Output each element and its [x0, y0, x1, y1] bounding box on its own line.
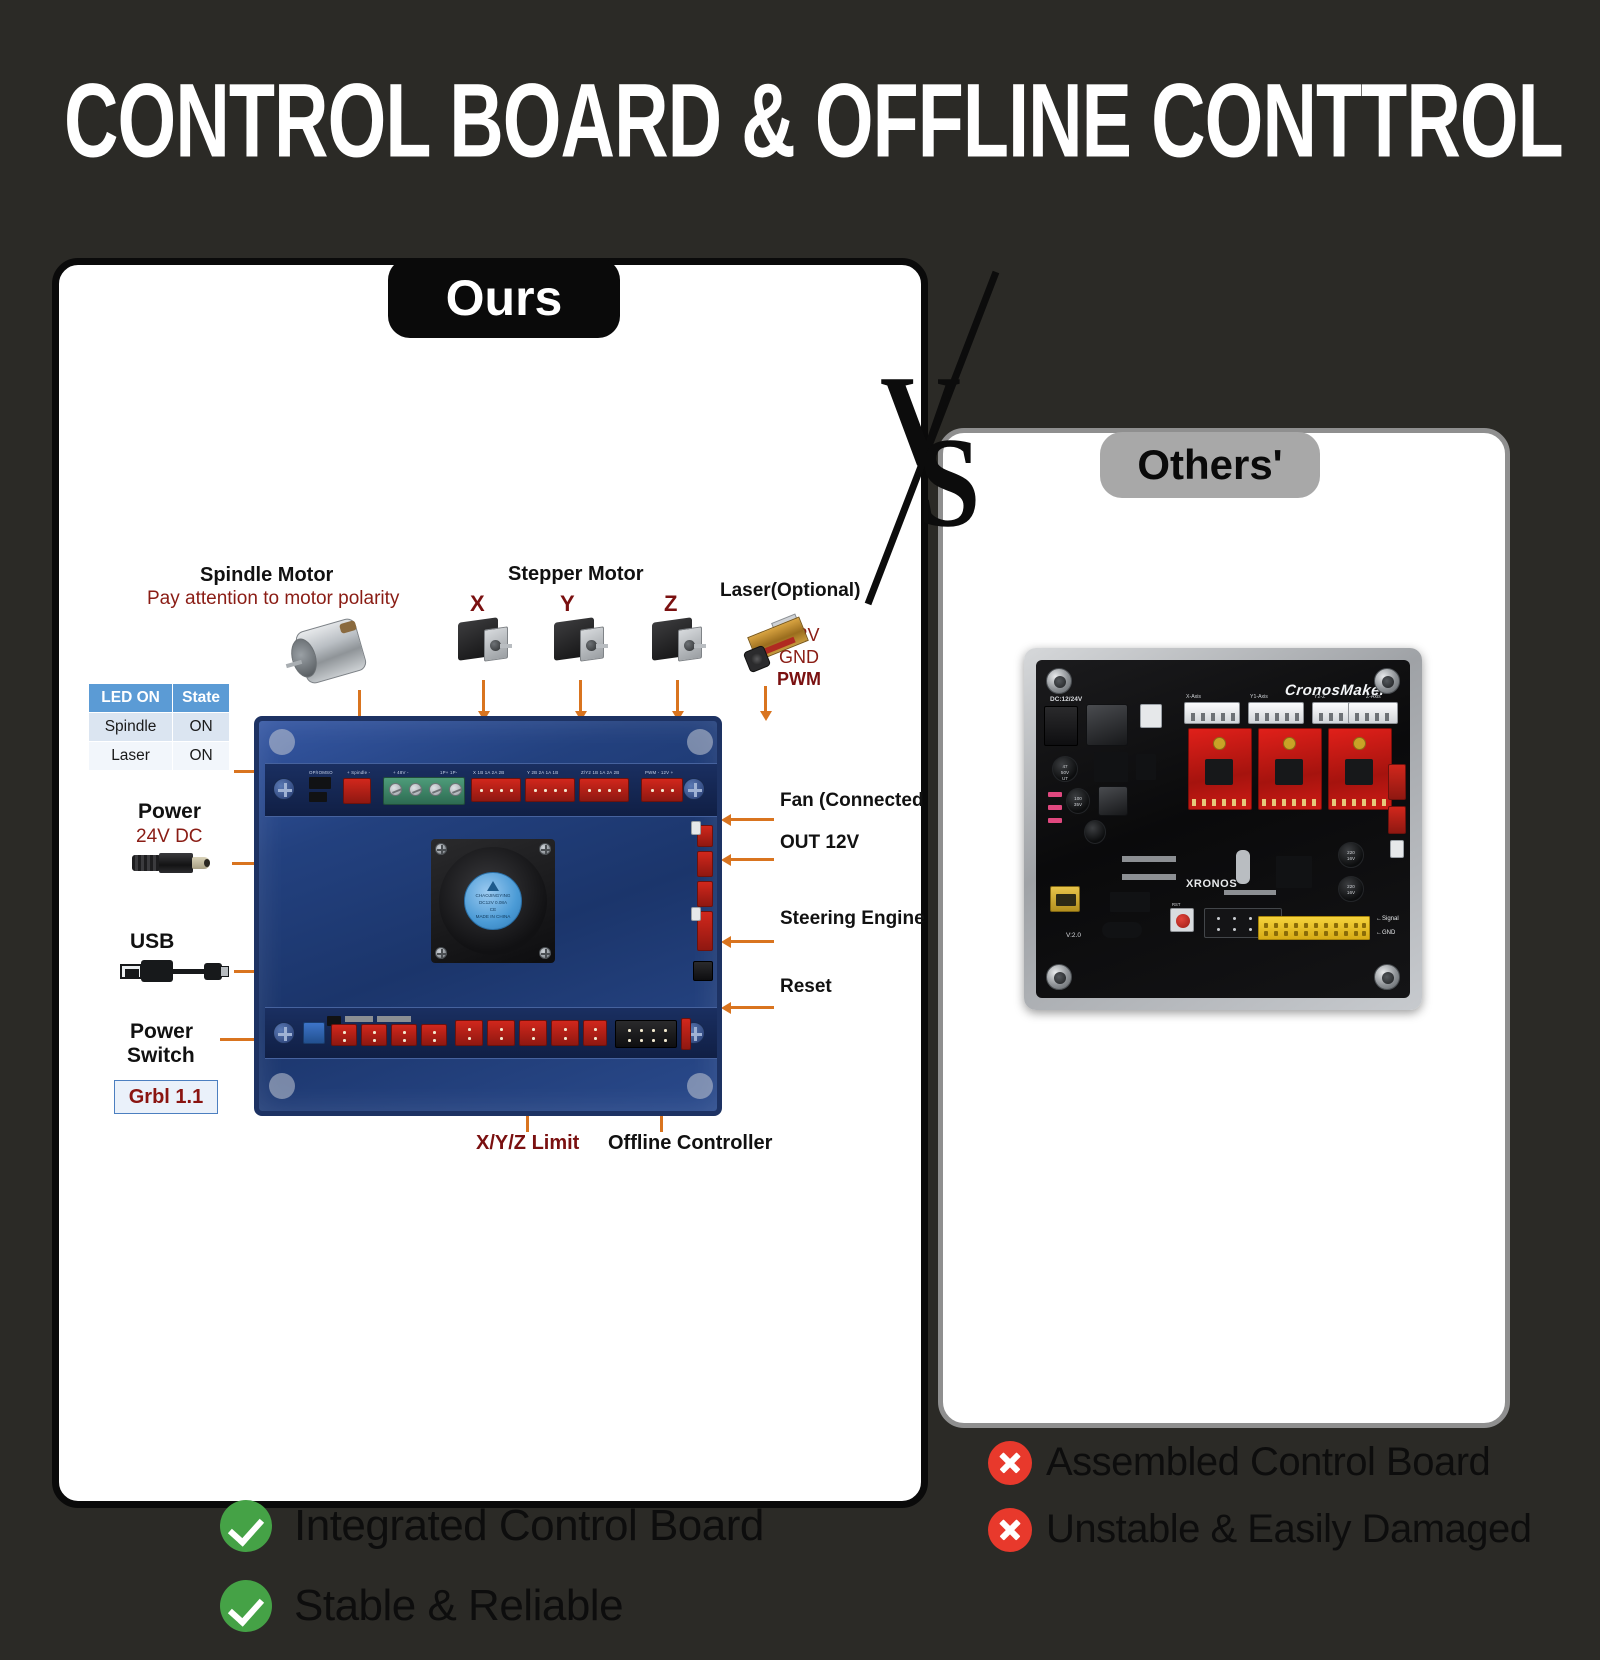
voltage-regulator	[1094, 752, 1128, 782]
jumper[interactable]	[1048, 805, 1062, 810]
fan-logo-icon	[487, 881, 499, 891]
ours-feature-list: Integrated Control Board Stable & Reliab…	[220, 1500, 764, 1660]
fan-cert: CE	[490, 907, 496, 914]
current-trim-pot[interactable]	[1283, 737, 1296, 750]
board-resistor-array	[345, 1016, 373, 1022]
limit-connector	[551, 1020, 579, 1046]
smd-row	[1224, 890, 1276, 895]
arrow-stepper-y-down	[579, 680, 582, 712]
reset-button[interactable]	[1170, 908, 1194, 932]
usb-a-shell	[141, 960, 173, 982]
board-top-connector-strip: OP/IOMSO + Spindle - + 48V - 1P+ 1P- X 1…	[265, 763, 717, 817]
arrow-steering-to-board	[730, 940, 774, 943]
dc-barrel-jack	[1044, 706, 1078, 746]
cooling-fan-image: CHAOJINGYING DC12V 0.08A CE MADE IN CHIN…	[431, 839, 555, 963]
connector-label-y2z: Y2-Z	[1314, 694, 1325, 700]
fan-screw	[539, 843, 551, 855]
stepper-motor-z-image	[650, 618, 706, 670]
usb-cable-image	[120, 958, 230, 984]
fan-screw	[435, 947, 447, 959]
label-axis-x: X	[470, 592, 485, 617]
white-connector	[1140, 704, 1162, 728]
fan-origin: MADE IN CHINA	[476, 914, 511, 921]
led-table-header-ledon: LED ON	[89, 684, 173, 713]
list-item: Integrated Control Board	[220, 1500, 764, 1552]
x-circle-icon	[988, 1508, 1032, 1552]
ours-control-board-image: OP/IOMSO + Spindle - + 48V - 1P+ 1P- X 1…	[254, 716, 722, 1116]
offline-controller-header	[615, 1020, 677, 1048]
mosfet	[1136, 754, 1156, 780]
crystal-oscillator	[1236, 850, 1250, 884]
aux-connector	[681, 1018, 691, 1050]
label-power: Power	[138, 800, 201, 824]
power-inductor	[1098, 786, 1128, 816]
led-row-1-state: ON	[173, 742, 230, 771]
ours-bullet-1-label: Stable & Reliable	[294, 1581, 623, 1631]
board-standoff	[1046, 964, 1072, 990]
label-out-12v: OUT 12V	[780, 832, 859, 853]
laser-module-image	[742, 614, 814, 676]
power-switch[interactable]	[303, 1022, 325, 1044]
limit-connector	[331, 1024, 357, 1046]
stepper-shaft	[694, 644, 706, 648]
label-usb: USB	[130, 930, 174, 954]
electrolytic-capacitor: 10035V	[1066, 788, 1090, 814]
connector-label-z: Z-Axis	[1366, 694, 1381, 700]
arrow-stepper-z-down	[676, 680, 679, 712]
stepper-driver-module	[1258, 728, 1322, 810]
fan-spec: DC12V 0.08A	[479, 900, 507, 907]
board-ic	[309, 777, 331, 789]
stepper-shaft	[500, 644, 512, 648]
electrolytic-capacitor: 4750VUT	[1052, 756, 1078, 782]
board-standoff	[1374, 964, 1400, 990]
label-stepper-motor: Stepper Motor	[508, 563, 644, 585]
vs-letter-s: S	[918, 419, 980, 548]
stepper-motor-y-image	[552, 618, 608, 670]
usb-a-connector	[120, 964, 142, 979]
stepper-x-connector	[471, 778, 521, 802]
ch340-ic	[1102, 922, 1142, 938]
list-item: Unstable & Easily Damaged	[988, 1507, 1532, 1552]
check-circle-icon	[220, 1580, 272, 1632]
label-rst: RST	[1172, 902, 1180, 907]
laser-pwm-connector	[641, 778, 683, 802]
out-12v-connector	[697, 851, 713, 877]
power-inductor	[1086, 704, 1128, 746]
fan-brand: CHAOJINGYING	[476, 893, 511, 900]
axis-connector-y1	[1248, 702, 1304, 724]
right-red-connector	[1388, 806, 1406, 834]
others-pcb: CronosMaker XRONOS DC:12/24V V:2.0 4750V…	[1036, 660, 1410, 998]
limit-connector	[421, 1024, 447, 1046]
electrolytic-capacitor: 22016V	[1338, 876, 1364, 902]
dc-jack-grip	[132, 855, 160, 871]
stepper-y-connector	[525, 778, 575, 802]
label-reset: Reset	[780, 976, 832, 997]
current-trim-pot[interactable]	[1213, 737, 1226, 750]
fan-plug	[691, 821, 701, 835]
connector-label-y1: Y1-Axis	[1250, 694, 1268, 700]
axis-connector-x	[1184, 702, 1240, 724]
label-spindle-polarity: Pay attention to motor polarity	[147, 588, 399, 609]
arrow-fan-to-board	[730, 818, 774, 821]
logic-ic	[1110, 892, 1150, 912]
board-standoff	[1374, 668, 1400, 694]
label-power-spec: 24V DC	[136, 826, 203, 847]
arrow-out12v-to-board	[730, 858, 774, 861]
x-circle-icon	[988, 1441, 1032, 1485]
label-power-switch-2: Switch	[127, 1044, 195, 1068]
spindle-motor-image	[284, 620, 374, 682]
right-red-connector	[1388, 764, 1406, 800]
board-screw	[273, 1022, 295, 1044]
screw-terminal	[409, 783, 422, 796]
label-fan-connected: Fan (Connected	[780, 790, 924, 811]
stepper-driver-module	[1188, 728, 1252, 810]
label-steering-engine: Steering Engine	[780, 908, 925, 929]
page-title: CONTROL BOARD & OFFLINE CONTTROL	[64, 62, 1536, 182]
arrow-laser-down	[764, 686, 767, 712]
label-board-version: V:2.0	[1066, 932, 1081, 939]
fan-screw	[435, 843, 447, 855]
label-laser-optional: Laser(Optional)	[720, 580, 860, 601]
arrow-reset-to-board	[730, 1006, 774, 1009]
jumper[interactable]	[1048, 818, 1062, 823]
stepper-driver-module	[1328, 728, 1392, 810]
jumper[interactable]	[1048, 792, 1062, 797]
limit-connector	[519, 1020, 547, 1046]
stepper-z-connector	[579, 778, 629, 802]
limit-connector	[391, 1024, 417, 1046]
board-ic	[309, 792, 327, 802]
led-row-0-name: Spindle	[89, 713, 173, 742]
tab-others[interactable]: Others'	[1100, 432, 1320, 498]
servo-plug	[691, 907, 701, 921]
tab-ours[interactable]: Ours	[388, 258, 620, 338]
connector-label-x: X-Axis	[1186, 694, 1201, 700]
others-bullet-0-label: Assembled Control Board	[1046, 1440, 1490, 1485]
axis-connector-z	[1348, 702, 1398, 724]
label-axis-z: Z	[664, 592, 677, 617]
dc-jack-barrel	[159, 853, 193, 873]
smd-row	[1122, 874, 1176, 880]
right-white-connector	[1390, 840, 1404, 858]
driver-ic	[1345, 759, 1373, 785]
board-standoff	[1046, 668, 1072, 694]
pwm-connector	[697, 881, 713, 907]
limit-connector	[455, 1020, 483, 1046]
current-trim-pot[interactable]	[1353, 737, 1366, 750]
fan-screw	[539, 947, 551, 959]
limit-connector	[583, 1020, 607, 1046]
board-screw	[273, 778, 295, 800]
stepper-motor-x-image	[456, 618, 512, 670]
label-spindle-motor: Spindle Motor	[200, 564, 333, 586]
label-axis-y: Y	[560, 592, 575, 617]
board-resistor-array	[377, 1016, 411, 1022]
board-mount-hole	[269, 729, 295, 755]
board-screw	[683, 778, 705, 800]
led-row-1-name: Laser	[89, 742, 173, 771]
usb-wire	[172, 969, 206, 974]
board-mount-hole	[687, 729, 713, 755]
electrolytic-capacitor	[1084, 820, 1106, 844]
spindle-terminal	[343, 778, 371, 804]
mini-usb-port[interactable]	[1050, 886, 1080, 912]
mcu-chip	[1276, 856, 1312, 888]
board-mount-hole	[687, 1073, 713, 1099]
vs-badge: V S	[860, 275, 1020, 535]
electrolytic-capacitor: 22016V	[1338, 842, 1364, 868]
smd-row	[1122, 856, 1176, 862]
list-item: Stable & Reliable	[220, 1580, 764, 1632]
list-item: Assembled Control Board	[988, 1440, 1532, 1485]
led-row-0-state: ON	[173, 713, 230, 742]
driver-ic	[1275, 759, 1303, 785]
dc-jack-hole	[204, 859, 210, 867]
limit-connector	[361, 1024, 387, 1046]
limit-switch-pin-header	[1258, 916, 1370, 940]
ours-bullet-0-label: Integrated Control Board	[294, 1501, 764, 1551]
ours-diagram: Spindle Motor Pay attention to motor pol…	[52, 258, 928, 1508]
grbl-version-badge: Grbl 1.1	[114, 1080, 218, 1114]
label-signal: ←Signal	[1376, 916, 1399, 922]
reset-button[interactable]	[693, 961, 713, 981]
others-feature-list: Assembled Control Board Unstable & Easil…	[988, 1440, 1532, 1574]
led-table-header-state: State	[173, 684, 230, 713]
board-mount-hole	[269, 1073, 295, 1099]
driver-ic	[1205, 759, 1233, 785]
fan-hub-label: CHAOJINGYING DC12V 0.08A CE MADE IN CHIN…	[464, 872, 522, 930]
others-bullet-1-label: Unstable & Easily Damaged	[1046, 1507, 1532, 1552]
screw-terminal	[389, 783, 402, 796]
board-bottom-connector-strip	[265, 1007, 717, 1059]
limit-connector	[487, 1020, 515, 1046]
table-row: Laser ON	[89, 742, 230, 771]
logo-xronos: XRONOS	[1186, 878, 1237, 890]
label-xyz-limit: X/Y/Z Limit	[476, 1132, 579, 1154]
screw-terminal	[449, 783, 462, 796]
label-dc-input: DC:12/24V	[1050, 696, 1082, 703]
label-gnd: ←GND	[1376, 930, 1395, 936]
screw-terminal	[429, 783, 442, 796]
led-state-table: LED ON State Spindle ON Laser ON	[88, 683, 230, 771]
table-row: Spindle ON	[89, 713, 230, 742]
stepper-shaft	[596, 644, 608, 648]
check-circle-icon	[220, 1500, 272, 1552]
others-control-board-image: CronosMaker XRONOS DC:12/24V V:2.0 4750V…	[1024, 648, 1422, 1010]
label-offline-controller: Offline Controller	[608, 1132, 772, 1154]
label-power-switch-1: Power	[130, 1020, 193, 1044]
arrow-stepper-x-down	[482, 680, 485, 712]
usb-mini-tip	[220, 966, 229, 977]
dc-power-jack-image	[132, 852, 218, 874]
